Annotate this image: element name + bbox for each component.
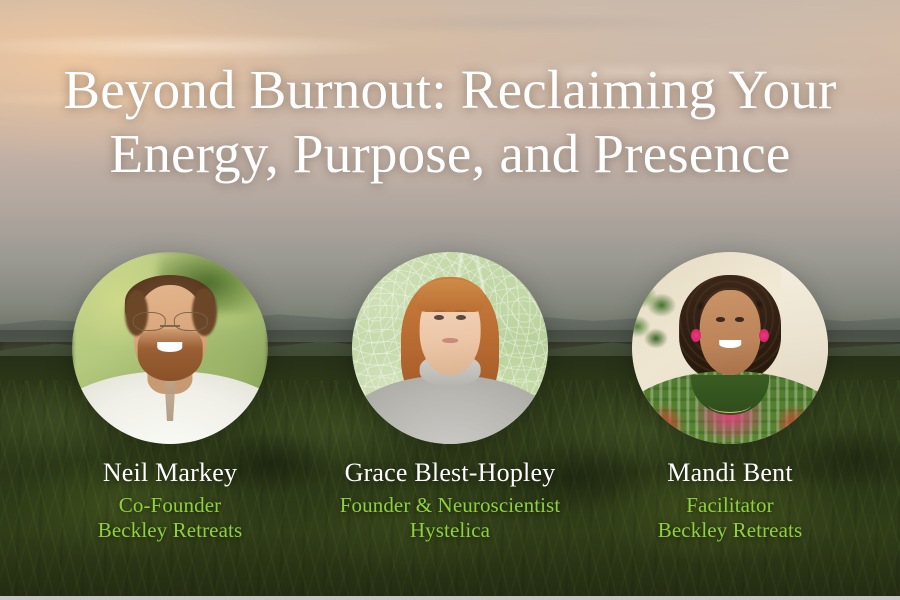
speaker-card: Neil Markey Co-Founder Beckley Retreats (30, 252, 310, 541)
photo-face (700, 290, 761, 374)
speaker-photo-neil-markey (72, 252, 268, 444)
speaker-org: Hystelica (340, 520, 561, 541)
avatar (72, 252, 268, 444)
photo-smile (157, 342, 182, 352)
photo-eye-right (735, 317, 744, 322)
page-title-line-2: Energy, Purpose, and Presence (110, 123, 791, 184)
photo-beard (138, 329, 203, 381)
speaker-caption: Mandi Bent Facilitator Beckley Retreats (658, 460, 802, 541)
speaker-org: Beckley Retreats (98, 520, 242, 541)
speaker-role: Co-Founder (98, 495, 242, 516)
page-title-line-1: Beyond Burnout: Reclaiming Your (63, 59, 836, 120)
speaker-name: Mandi Bent (658, 460, 802, 486)
avatar (632, 252, 828, 444)
photo-hair-top (417, 279, 484, 312)
speaker-photo-mandi-bent (632, 252, 828, 444)
page-title: Beyond Burnout: Reclaiming Your Energy, … (30, 58, 870, 186)
speaker-name: Neil Markey (98, 460, 242, 486)
photo-earring-left (691, 329, 701, 342)
avatar (352, 252, 548, 444)
speaker-org: Beckley Retreats (658, 520, 802, 541)
photo-wall (781, 252, 828, 390)
speaker-caption: Grace Blest-Hopley Founder & Neuroscient… (340, 460, 561, 541)
photo-smile (719, 340, 741, 348)
speaker-role: Founder & Neuroscientist (340, 495, 561, 516)
bottom-strip (0, 596, 900, 600)
speaker-card: Mandi Bent Facilitator Beckley Retreats (590, 252, 870, 541)
photo-lips (442, 338, 458, 343)
glasses-bridge (160, 325, 180, 327)
speaker-photo-grace-blest-hopley (352, 252, 548, 444)
speaker-card: Grace Blest-Hopley Founder & Neuroscient… (310, 252, 590, 541)
photo-eye-left (716, 317, 725, 322)
speaker-caption: Neil Markey Co-Founder Beckley Retreats (98, 460, 242, 541)
speaker-role: Facilitator (658, 495, 802, 516)
speaker-list: Neil Markey Co-Founder Beckley Retreats (0, 252, 900, 541)
speaker-name: Grace Blest-Hopley (340, 460, 561, 486)
webinar-promo-poster: Beyond Burnout: Reclaiming Your Energy, … (0, 0, 900, 600)
